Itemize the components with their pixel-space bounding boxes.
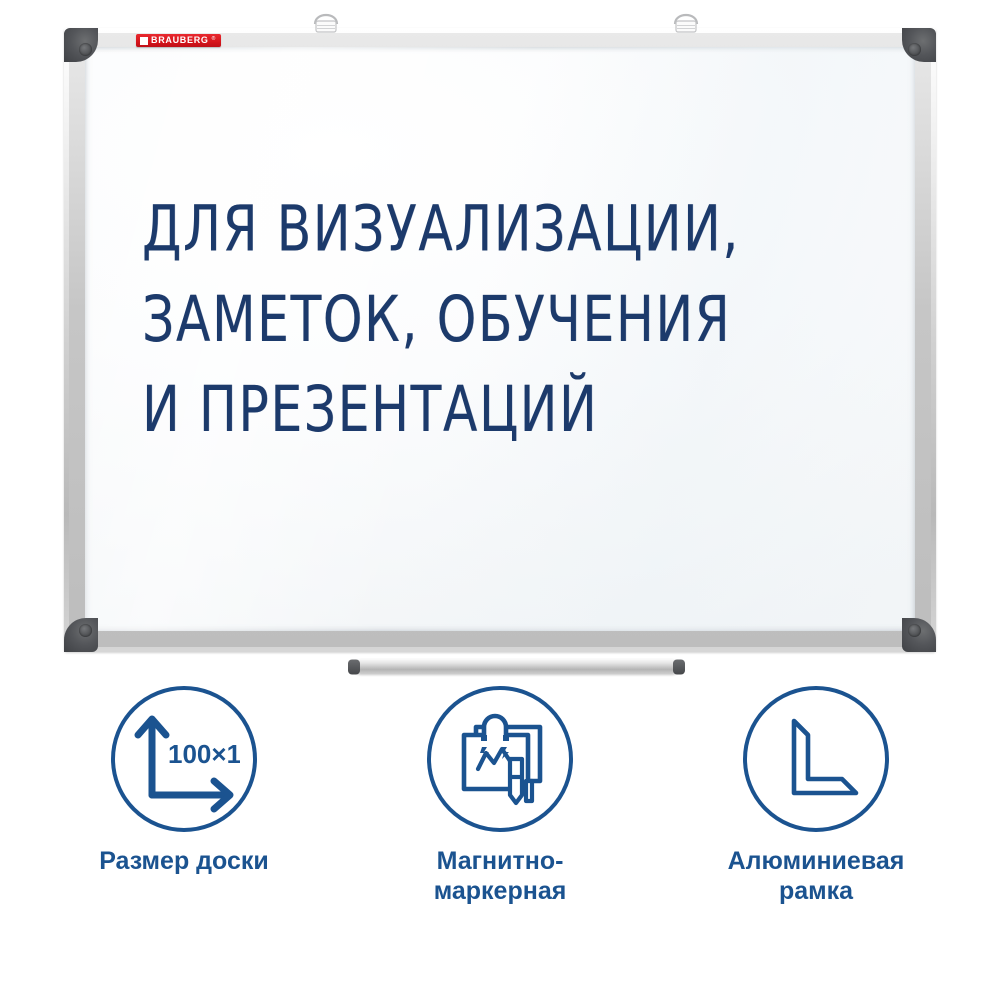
aluminium-corner-profile-icon xyxy=(764,707,868,811)
magnet-marker-board-icon xyxy=(448,707,552,811)
board-size-value: 100×150 xyxy=(168,739,240,769)
feature-aluminium-frame: Алюминиевая рамка xyxy=(711,686,921,906)
feature-icon-circle: 100×150 xyxy=(111,686,257,832)
wall-hanger-left-icon xyxy=(304,6,348,36)
brand-name-text: BRAUBERG xyxy=(151,36,209,45)
brauberg-logo: BRAUBERG ® xyxy=(136,34,221,47)
whiteboard-product-image: ДЛЯ ВИЗУАЛИЗАЦИИ, ЗАМЕТОК, ОБУЧЕНИЯ И ПР… xyxy=(64,28,936,652)
feature-board-size: 100×150 Размер доски xyxy=(79,686,289,906)
feature-icon-circle xyxy=(743,686,889,832)
feature-label-magnetic-marker: Магнитно- маркерная xyxy=(434,846,567,906)
feature-badge-list: 100×150 Размер доски xyxy=(0,686,1000,906)
trademark-symbol: ® xyxy=(212,37,216,42)
feature-label-aluminium-frame: Алюминиевая рамка xyxy=(728,846,905,906)
board-size-arrows-icon: 100×150 xyxy=(128,703,240,815)
feature-icon-circle xyxy=(427,686,573,832)
feature-label-board-size: Размер доски xyxy=(99,846,269,876)
feature-magnetic-marker: Магнитно- маркерная xyxy=(395,686,605,906)
product-marketing-page: ДЛЯ ВИЗУАЛИЗАЦИИ, ЗАМЕТОК, ОБУЧЕНИЯ И ПР… xyxy=(0,0,1000,1000)
pen-tray-cap-right xyxy=(673,659,685,674)
pen-tray-cap-left xyxy=(348,659,360,674)
pen-tray xyxy=(354,659,679,674)
headline-text: ДЛЯ ВИЗУАЛИЗАЦИИ, ЗАМЕТОК, ОБУЧЕНИЯ И ПР… xyxy=(142,186,740,456)
brauberg-mark-icon xyxy=(140,37,148,45)
wall-hanger-right-icon xyxy=(664,6,708,36)
